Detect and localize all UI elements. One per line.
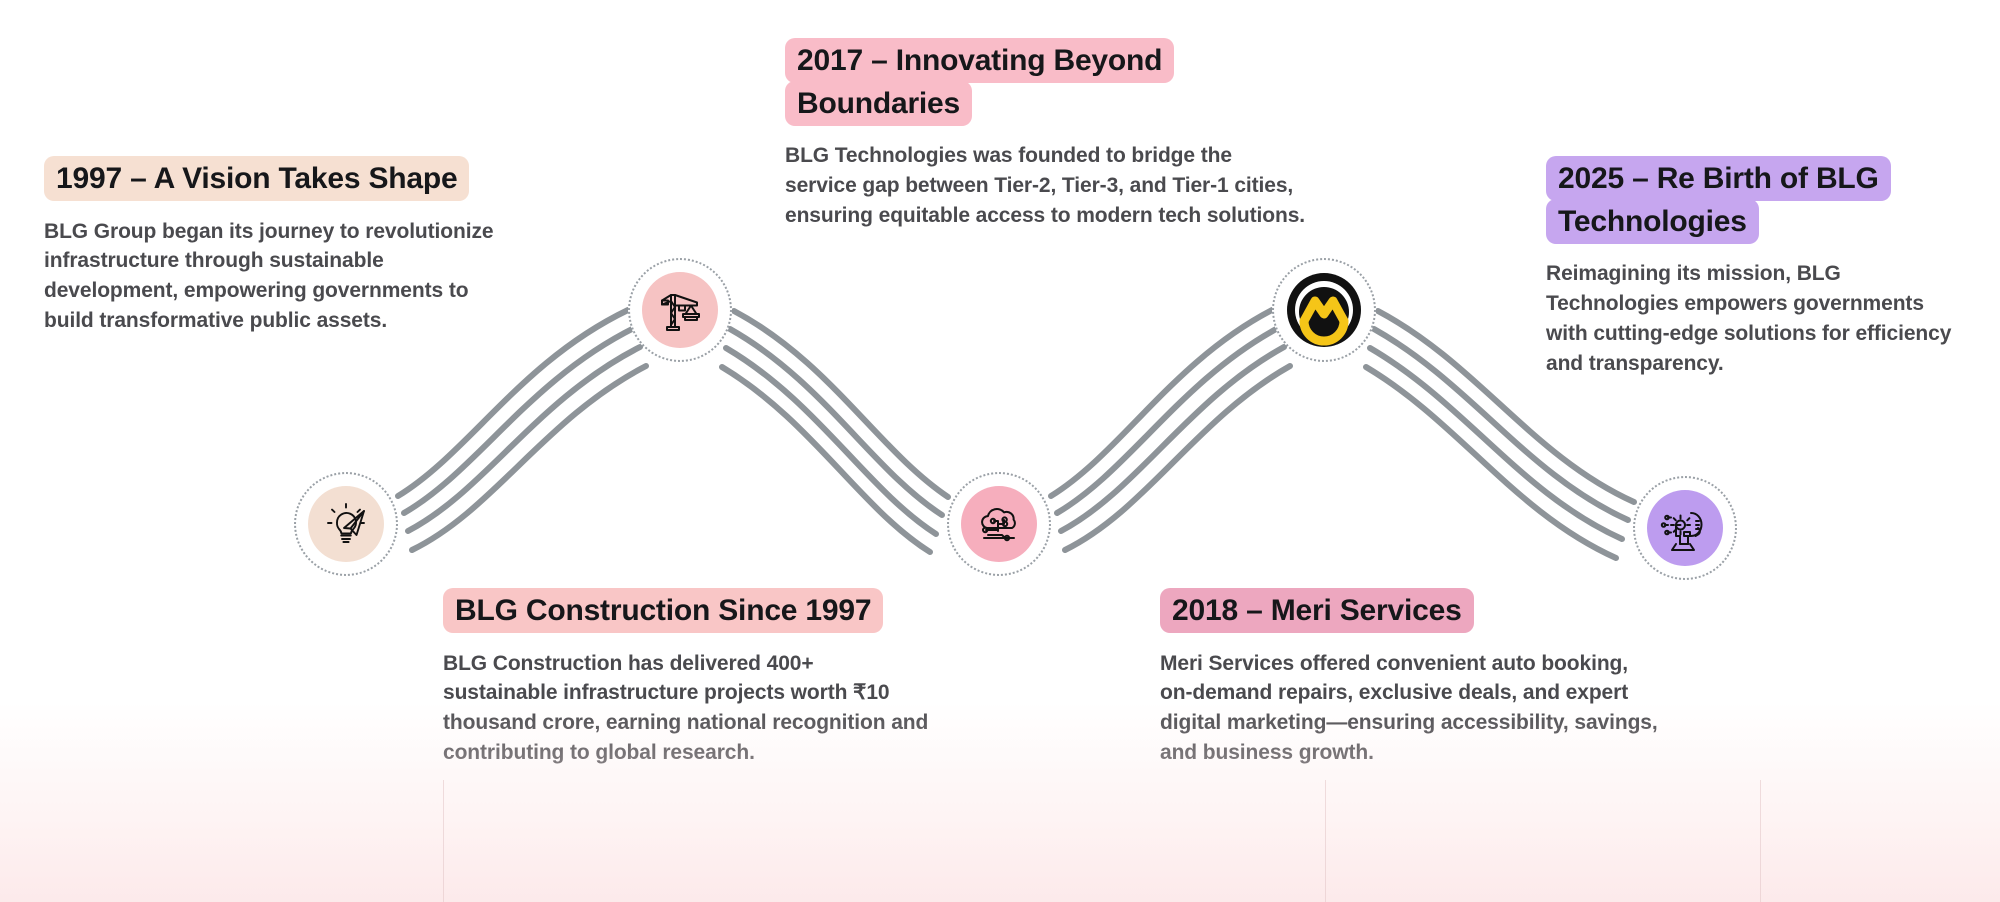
column-rule-right [1760,780,1761,902]
milestone-body: BLG Group began its journey to revolutio… [44,217,494,336]
milestone-badge: 2025 – Re Birth of BLG Technologies [1546,158,1966,243]
milestone-block-2017-innovating: 2017 – Innovating Beyond Boundaries BLG … [785,40,1305,231]
timeline-node-2017-innovating[interactable] [947,472,1051,576]
milestone-body: BLG Construction has delivered 400+ sust… [443,649,933,768]
milestone-body: Meri Services offered convenient auto bo… [1160,649,1660,768]
node-disc [308,486,384,562]
lightbulb-paper-plane-icon [320,498,372,550]
milestone-block-blg-construction: BLG Construction Since 1997 BLG Construc… [443,590,933,768]
node-disc [1647,490,1723,566]
milestone-block-2018-meri-services: 2018 – Meri Services Meri Services offer… [1160,590,1660,768]
cloud-circuit-icon [972,497,1026,551]
milestone-title: 2025 – Re Birth of BLG Technologies [1546,156,1891,244]
milestone-badge: 2018 – Meri Services [1160,590,1660,633]
milestone-title: BLG Construction Since 1997 [443,588,883,633]
milestone-body: BLG Technologies was founded to bridge t… [785,141,1305,230]
ai-robot-head-icon [1658,501,1712,555]
milestone-title: 1997 – A Vision Takes Shape [44,156,469,201]
column-rule-left [443,780,444,902]
node-disc [642,272,718,348]
column-rule-mid [1325,780,1326,902]
timeline-infographic: 1997 – A Vision Takes Shape BLG Group be… [0,0,2000,902]
node-disc [961,486,1037,562]
milestone-badge: BLG Construction Since 1997 [443,590,933,633]
milestone-body: Reimagining its mission, BLG Technologie… [1546,259,1966,378]
bottom-gradient-wash [0,702,2000,902]
milestone-block-2025-rebirth: 2025 – Re Birth of BLG Technologies Reim… [1546,158,1966,378]
timeline-node-1997-vision[interactable] [294,472,398,576]
construction-crane-icon [653,283,707,337]
milestone-title: 2017 – Innovating Beyond Boundaries [785,38,1174,126]
node-disc [1286,272,1362,348]
timeline-node-2025-rebirth[interactable] [1633,476,1737,580]
meri-services-logo-icon [1286,272,1362,348]
milestone-title: 2018 – Meri Services [1160,588,1474,633]
timeline-node-blg-construction[interactable] [628,258,732,362]
timeline-node-2018-meri-services[interactable] [1272,258,1376,362]
milestone-block-1997-vision: 1997 – A Vision Takes Shape BLG Group be… [44,158,494,336]
milestone-badge: 1997 – A Vision Takes Shape [44,158,494,201]
milestone-badge: 2017 – Innovating Beyond Boundaries [785,40,1305,125]
